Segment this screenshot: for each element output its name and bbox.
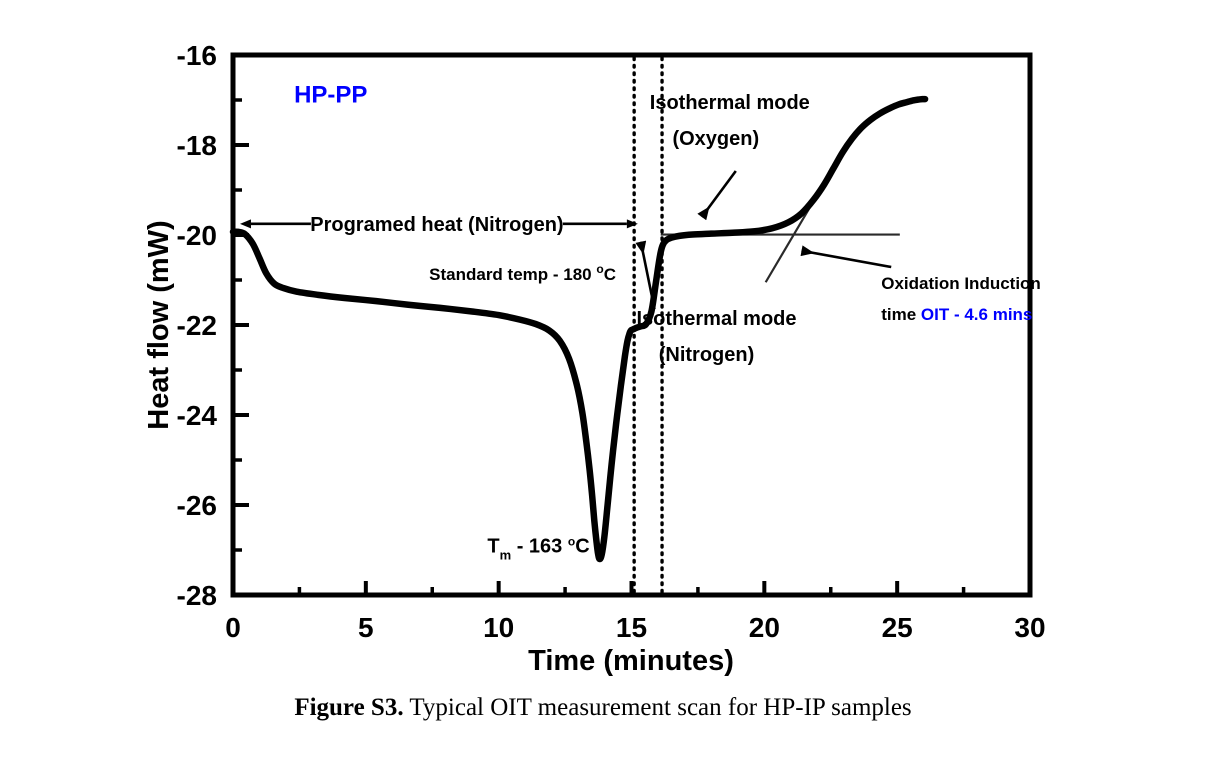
series-label-hp-pp: HP-PP [294,81,367,108]
x-axis-tick-labels: 051015202530 [225,612,1045,643]
annotation-isothermal-oxygen: Isothermal mode (Oxygen) [650,92,810,217]
isothermal-nitrogen-arrow [641,242,655,309]
annotation-tm-peak: Tm - 163 oC [487,534,589,562]
figure-caption: Figure S3. Typical OIT measurement scan … [0,694,1206,722]
heat-flow-curve [233,99,925,559]
isothermal-oxygen-arrow [702,171,736,217]
annotation-programed-heat: Programed heat (Nitrogen) [251,214,627,236]
annotation-standard-temp: Standard temp - 180 oC [429,262,616,284]
y-tick-label: -20 [177,220,217,251]
x-tick-label: 15 [616,612,647,643]
isothermal-oxygen-line2: (Oxygen) [672,128,759,150]
figure-caption-bold: Figure S3. [294,694,403,721]
figure-container: 051015202530 -16-18-20-22-24-26-28 Time … [0,0,1206,766]
y-tick-label: -26 [177,490,217,521]
melting-temperature-label: Tm - 163 oC [487,534,589,562]
y-tick-label: -24 [177,400,218,431]
oit-label-line2: time OIT - 4.6 mins [881,305,1032,324]
x-tick-label: 30 [1014,612,1045,643]
figure-caption-text: Typical OIT measurement scan for HP-IP s… [404,694,912,721]
y-axis-title: Heat flow (mW) [143,220,175,429]
y-axis-tick-labels: -16-18-20-22-24-26-28 [177,40,218,611]
x-axis-title: Time (minutes) [528,645,734,677]
oit-construction-lines [661,134,900,283]
plot-frame [233,55,1030,595]
standard-temp-label: Standard temp - 180 oC [429,262,616,284]
isothermal-oxygen-line1: Isothermal mode [650,92,810,114]
oit-label-line1: Oxidation Induction [881,274,1041,293]
oit-arrow [802,251,892,267]
annotation-oit: Oxidation Induction time OIT - 4.6 mins [802,251,1041,324]
x-tick-label: 25 [882,612,913,643]
x-tick-label: 20 [749,612,780,643]
y-tick-label: -22 [177,310,217,341]
x-tick-label: 10 [483,612,514,643]
programed-heat-label: Programed heat (Nitrogen) [310,214,563,236]
y-tick-label: -18 [177,130,217,161]
y-tick-label: -16 [177,40,217,71]
isothermal-nitrogen-line2: (Nitrogen) [659,344,755,366]
oit-chart: 051015202530 -16-18-20-22-24-26-28 Time … [0,0,1206,766]
isothermal-nitrogen-line1: Isothermal mode [636,308,796,330]
x-tick-label: 5 [358,612,374,643]
x-tick-label: 0 [225,612,241,643]
y-tick-label: -28 [177,580,217,611]
